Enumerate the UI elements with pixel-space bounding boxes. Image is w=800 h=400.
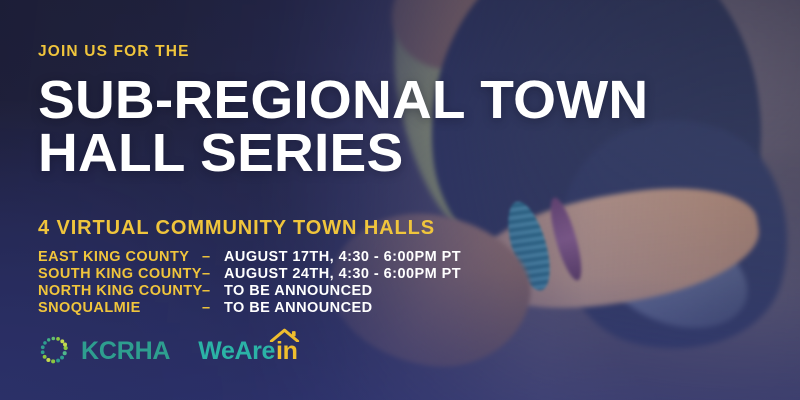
schedule-detail: TO BE ANNOUNCED (224, 300, 461, 316)
schedule-separator: – (202, 249, 224, 265)
kcrha-wordmark: KCRHA (81, 337, 170, 366)
subheading: 4 VIRTUAL COMMUNITY TOWN HALLS (38, 217, 435, 240)
schedule-region: EAST KING COUNTY (38, 249, 202, 265)
wearein-wordmark: WeAre (198, 337, 275, 366)
eyebrow-text: JOIN US FOR THE (38, 43, 190, 61)
banner-content: JOIN US FOR THE SUB-REGIONAL TOWN HALL S… (0, 0, 800, 400)
schedule-separator: – (202, 300, 224, 316)
schedule-detail: AUGUST 17TH, 4:30 - 6:00PM PT (224, 249, 461, 265)
schedule-list: EAST KING COUNTY–AUGUST 17TH, 4:30 - 6:0… (38, 249, 461, 316)
promotional-banner: JOIN US FOR THE SUB-REGIONAL TOWN HALL S… (0, 0, 800, 400)
page-title: SUB-REGIONAL TOWN HALL SERIES (38, 74, 648, 180)
wearein-logo: WeAre in (198, 337, 297, 366)
schedule-separator: – (202, 283, 224, 299)
schedule-region: NORTH KING COUNTY (38, 283, 202, 299)
schedule-region: SOUTH KING COUNTY (38, 266, 202, 282)
kcrha-logo: KCRHA (38, 334, 170, 368)
dotted-ring-icon (38, 334, 72, 368)
wearein-in-mark: in (276, 337, 297, 366)
schedule-detail: AUGUST 24TH, 4:30 - 6:00PM PT (224, 266, 461, 282)
logo-row: KCRHA WeAre in (38, 334, 297, 368)
schedule-region: SNOQUALMIE (38, 300, 202, 316)
schedule-separator: – (202, 266, 224, 282)
schedule-detail: TO BE ANNOUNCED (224, 283, 461, 299)
